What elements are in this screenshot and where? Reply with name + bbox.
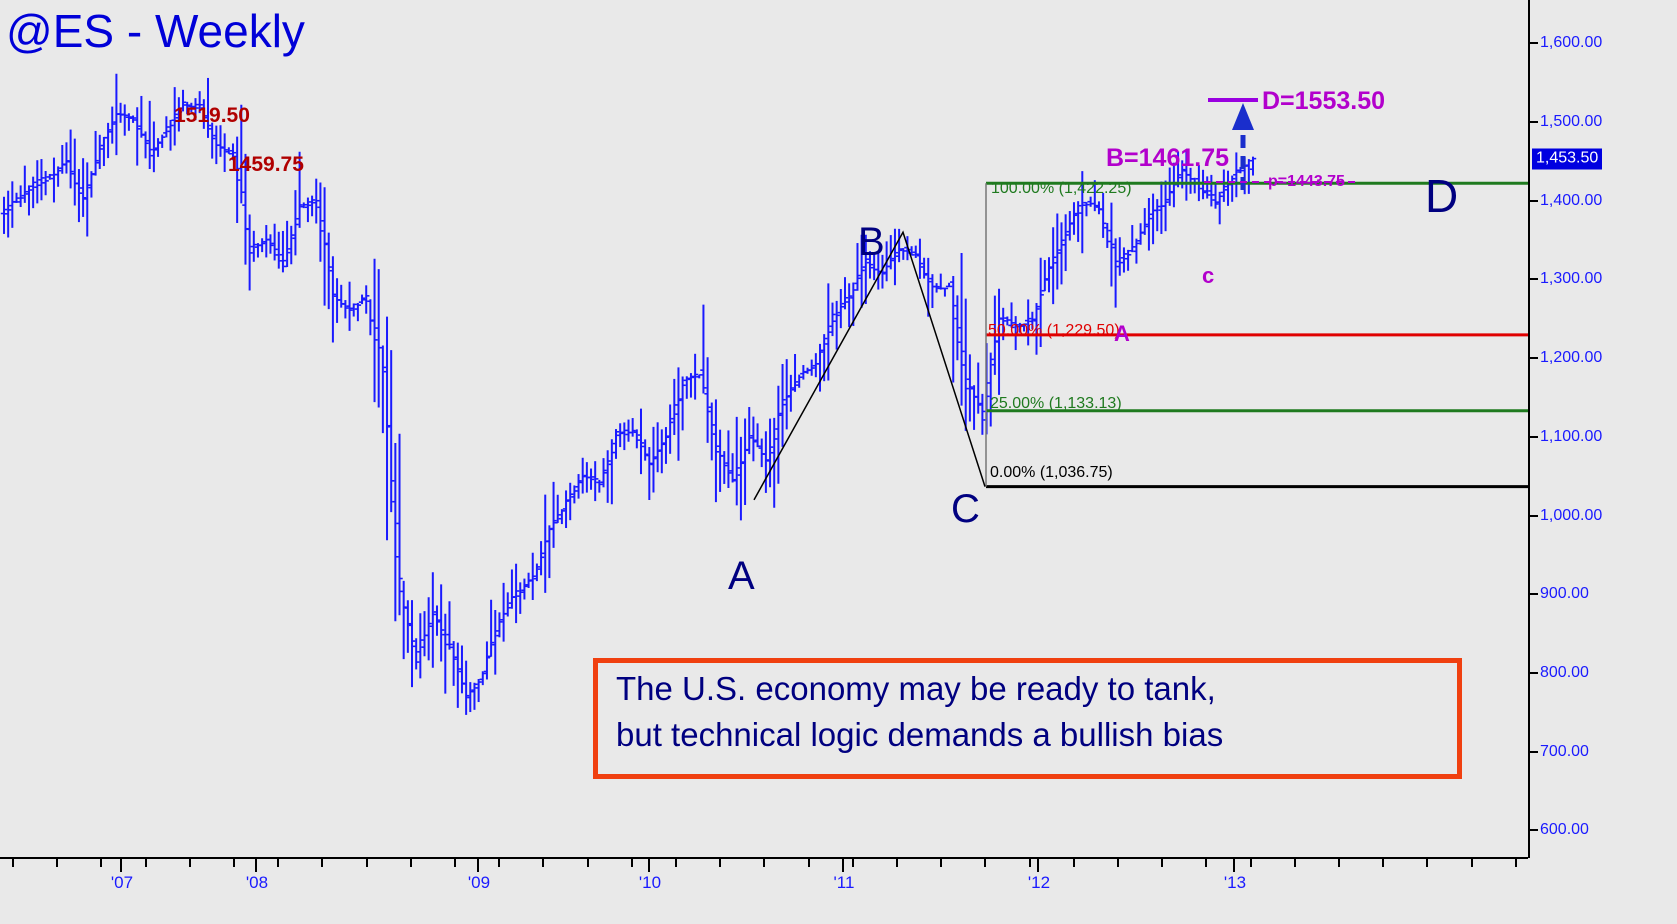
- time-tick-mark: [763, 859, 765, 867]
- time-tick-mark-major: [648, 859, 650, 872]
- price-tick-mark: [1530, 436, 1538, 438]
- wave-a-minor-label: A: [1114, 321, 1130, 347]
- last-price-badge: 1,453.50: [1532, 148, 1602, 169]
- time-tick-mark: [1161, 859, 1163, 867]
- time-tick-mark: [587, 859, 589, 867]
- price-tick-label: 1,600.00: [1540, 34, 1602, 52]
- callout-line-1: The U.S. economy may be ready to tank,: [598, 663, 1457, 709]
- price-tick-mark: [1530, 672, 1538, 674]
- wave-a-major-label: A: [728, 556, 755, 596]
- time-tick-mark-major: [842, 859, 844, 872]
- price-tick-label: 600.00: [1540, 821, 1589, 839]
- time-tick-mark: [852, 859, 854, 867]
- commentary-callout: The U.S. economy may be ready to tank, b…: [593, 658, 1462, 779]
- time-tick-mark: [542, 859, 544, 867]
- price-high-1459-label: 1459.75: [228, 153, 304, 177]
- time-tick-mark: [1426, 859, 1428, 867]
- time-tick-mark: [896, 859, 898, 867]
- projection-arrow-head: [1232, 103, 1254, 130]
- time-tick-mark: [984, 859, 986, 867]
- price-tick-mark: [1530, 357, 1538, 359]
- time-tick-mark: [498, 859, 500, 867]
- price-tick-label: 1,200.00: [1540, 349, 1602, 367]
- time-tick-mark: [675, 859, 677, 867]
- price-tick-mark: [1530, 121, 1538, 123]
- price-tick-label: 1,500.00: [1540, 113, 1602, 131]
- price-tick-label: 1,400.00: [1540, 192, 1602, 210]
- wave-d-major-label: D: [1425, 173, 1458, 219]
- price-high-1519-label: 1519.50: [174, 104, 250, 128]
- time-tick-mark: [1205, 859, 1207, 867]
- b-projection-label: B=1461.75: [1106, 144, 1229, 173]
- fib-100-label: 100.00% (1,422.25): [991, 180, 1132, 198]
- price-tick-label: 1,100.00: [1540, 428, 1602, 446]
- price-tick-mark: [1530, 515, 1538, 517]
- time-tick-mark: [631, 859, 633, 867]
- callout-line-2: but technical logic demands a bullish bi…: [598, 709, 1457, 755]
- time-axis-label: '07: [111, 873, 133, 893]
- price-tick-mark: [1530, 278, 1538, 280]
- time-tick-mark: [808, 859, 810, 867]
- price-tick-label: 800.00: [1540, 664, 1589, 682]
- time-axis-label: '12: [1028, 873, 1050, 893]
- time-tick-mark: [940, 859, 942, 867]
- time-tick-mark: [1029, 859, 1031, 867]
- time-tick-mark: [410, 859, 412, 867]
- price-tick-mark: [1530, 829, 1538, 831]
- time-tick-mark-major: [255, 859, 257, 872]
- time-tick-mark: [1382, 859, 1384, 867]
- time-axis[interactable]: '07'08'09'10'11'12'13: [0, 857, 1528, 924]
- time-axis-label: '10: [639, 873, 661, 893]
- time-tick-mark: [1471, 859, 1473, 867]
- time-tick-mark: [100, 859, 102, 867]
- time-axis-label: '09: [468, 873, 490, 893]
- time-tick-mark: [1338, 859, 1340, 867]
- time-tick-mark: [12, 859, 14, 867]
- fib-50-label: 50.00% (1,229.50): [988, 322, 1120, 340]
- fib-25-label: 25.00% (1,133.13): [990, 395, 1122, 413]
- price-tick-mark: [1530, 200, 1538, 202]
- time-tick-mark: [1117, 859, 1119, 867]
- time-tick-mark: [1515, 859, 1517, 867]
- p-level-label: p=1443.75: [1268, 173, 1345, 191]
- time-tick-mark: [56, 859, 58, 867]
- time-axis-label: '13: [1224, 873, 1246, 893]
- time-axis-label: '08: [246, 873, 268, 893]
- price-tick-mark: [1530, 593, 1538, 595]
- price-tick-label: 900.00: [1540, 585, 1589, 603]
- time-tick-mark: [1294, 859, 1296, 867]
- wave-b-major-label: B: [858, 222, 885, 262]
- chart-root: @ES - Weekly: [0, 0, 1677, 922]
- price-tick-label: 700.00: [1540, 743, 1589, 761]
- d-target-label: D=1553.50: [1262, 87, 1385, 116]
- price-tick-label: 1,000.00: [1540, 507, 1602, 525]
- price-axis[interactable]: 1,600.001,500.001,400.001,300.001,200.00…: [1528, 0, 1677, 858]
- time-tick-mark-major: [1233, 859, 1235, 872]
- fib-0-label: 0.00% (1,036.75): [990, 464, 1113, 482]
- time-tick-mark: [189, 859, 191, 867]
- price-tick-label: 1,300.00: [1540, 270, 1602, 288]
- time-tick-mark: [1250, 859, 1252, 867]
- wave-c-minor-label: c: [1202, 263, 1214, 289]
- time-tick-mark: [277, 859, 279, 867]
- time-tick-mark: [1073, 859, 1075, 867]
- time-tick-mark-major: [120, 859, 122, 872]
- time-tick-mark: [321, 859, 323, 867]
- price-tick-mark: [1530, 751, 1538, 753]
- time-tick-mark: [454, 859, 456, 867]
- time-axis-label: '11: [834, 873, 855, 893]
- time-tick-mark: [719, 859, 721, 867]
- price-tick-mark: [1530, 42, 1538, 44]
- time-tick-mark: [366, 859, 368, 867]
- time-tick-mark: [145, 859, 147, 867]
- wave-c-major-label: C: [951, 489, 980, 529]
- time-tick-mark-major: [1037, 859, 1039, 872]
- time-tick-mark-major: [477, 859, 479, 872]
- time-tick-mark: [233, 859, 235, 867]
